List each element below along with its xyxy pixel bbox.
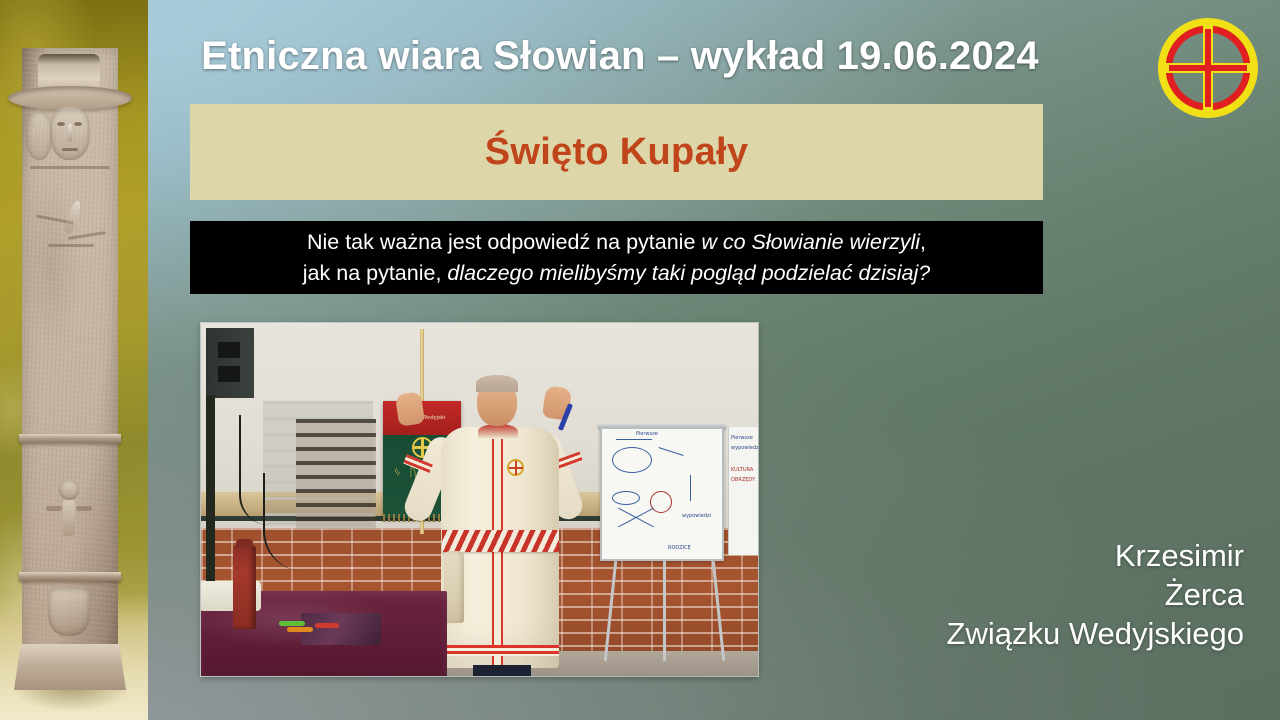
idol-face-side <box>26 112 52 160</box>
idol-face-front <box>50 106 90 160</box>
idol-middle-body <box>63 500 75 536</box>
sash-tassel <box>444 551 464 623</box>
quote-line-2-plain: jak na pytanie, <box>303 261 448 285</box>
quote-bar: Nie tak ważna jest odpowiedź na pytanie … <box>190 221 1043 294</box>
speaker-stand <box>206 395 215 605</box>
idol-ledge-upper <box>19 434 121 443</box>
headline-band: Święto Kupały <box>190 104 1043 200</box>
coat-placket <box>492 439 503 668</box>
flipchart-right-sheet: Pierwsze wypowiedzi KULTURA OBRZĘDY <box>728 427 758 555</box>
credits-block: Krzesimir Żerca Związku Wedyjskiego <box>784 536 1244 653</box>
speaker-hand-left <box>395 391 425 426</box>
chart-note-bottom: RODZICE <box>668 545 691 551</box>
chart-stroke-1 <box>616 439 652 440</box>
marker-red <box>315 623 339 628</box>
wooden-idol-statue <box>233 545 256 629</box>
idol-middle-arm-left <box>46 506 62 511</box>
quote-line-2-italic: dlaczego mielibyśmy taki pogląd podziela… <box>447 261 930 285</box>
equipment-rack <box>296 419 376 529</box>
chart-note-mid: wypowiedzi <box>682 513 711 519</box>
idol-shoulder-line <box>30 166 110 169</box>
idol-hand-line <box>48 244 94 247</box>
idol-nose <box>68 124 72 142</box>
chart-note-right-2: wypowiedzi <box>731 445 758 451</box>
pa-speaker-icon <box>206 328 254 398</box>
chart-note-right-4: OBRZĘDY <box>731 477 755 483</box>
logo-cross-horizontal-core <box>1169 65 1247 71</box>
idol-pillar <box>22 48 118 686</box>
quote-line-1: Nie tak ważna jest odpowiedź na pytanie … <box>307 227 926 258</box>
quote-line-1-italic: w co Słowianie wierzyli <box>701 230 920 254</box>
speaker-trousers <box>473 665 531 676</box>
slide-canvas: Etniczna wiara Słowian – wykład 19.06.20… <box>0 0 1280 720</box>
speaker-port-lower <box>218 366 240 382</box>
flipchart-board: Pierwsze wypowiedzi RODZICE <box>600 427 724 561</box>
coat-hem <box>441 645 559 656</box>
speaker-hair <box>476 375 518 392</box>
speaker-port-upper <box>218 342 240 358</box>
easel-leg-back <box>663 561 666 661</box>
chart-orbit-circle <box>612 491 640 505</box>
page-title: Etniczna wiara Słowian – wykład 19.06.20… <box>190 34 1050 79</box>
idol-base <box>14 644 126 690</box>
idol-lower-face <box>48 588 90 636</box>
sun-cross-logo <box>1158 18 1258 118</box>
sun-cross-medallion-icon <box>507 459 524 476</box>
headline-text: Święto Kupały <box>485 131 749 174</box>
zbruch-idol-photo <box>0 0 148 720</box>
chart-note-top: Pierwsze <box>636 431 658 437</box>
chart-spiral <box>650 491 672 513</box>
idol-middle-arm-right <box>76 506 92 511</box>
idol-mouth <box>62 148 78 151</box>
quote-line-1-tail: , <box>920 230 926 254</box>
idol-ledge-lower <box>19 572 121 581</box>
quote-line-2: jak na pytanie, dlaczego mielibyśmy taki… <box>303 258 930 289</box>
chart-note-right-3: KULTURA <box>731 467 753 473</box>
chart-face-circle <box>612 447 652 473</box>
table-booklet <box>301 613 381 645</box>
credits-role: Żerca <box>784 575 1244 614</box>
chart-arrow <box>690 475 691 501</box>
credits-name: Krzesimir <box>784 536 1244 575</box>
chart-stroke-2 <box>658 447 683 456</box>
lecture-photo: Związek Wedyjski ᛃ ᚢ ᚹ ᛚ <box>201 323 758 676</box>
idol-middle-head <box>59 480 79 500</box>
idol-eye-right <box>74 122 82 126</box>
woven-sash <box>442 530 559 552</box>
marker-green <box>279 621 305 626</box>
idol-middle-figure <box>52 480 86 552</box>
coat-collar <box>478 424 518 438</box>
idol-eye-left <box>57 122 65 126</box>
marker-orange <box>287 627 313 632</box>
quote-line-1-plain: Nie tak ważna jest odpowiedź na pytanie <box>307 230 701 254</box>
credits-organisation: Związku Wedyjskiego <box>784 614 1244 653</box>
chart-note-right-1: Pierwsze <box>731 435 753 441</box>
